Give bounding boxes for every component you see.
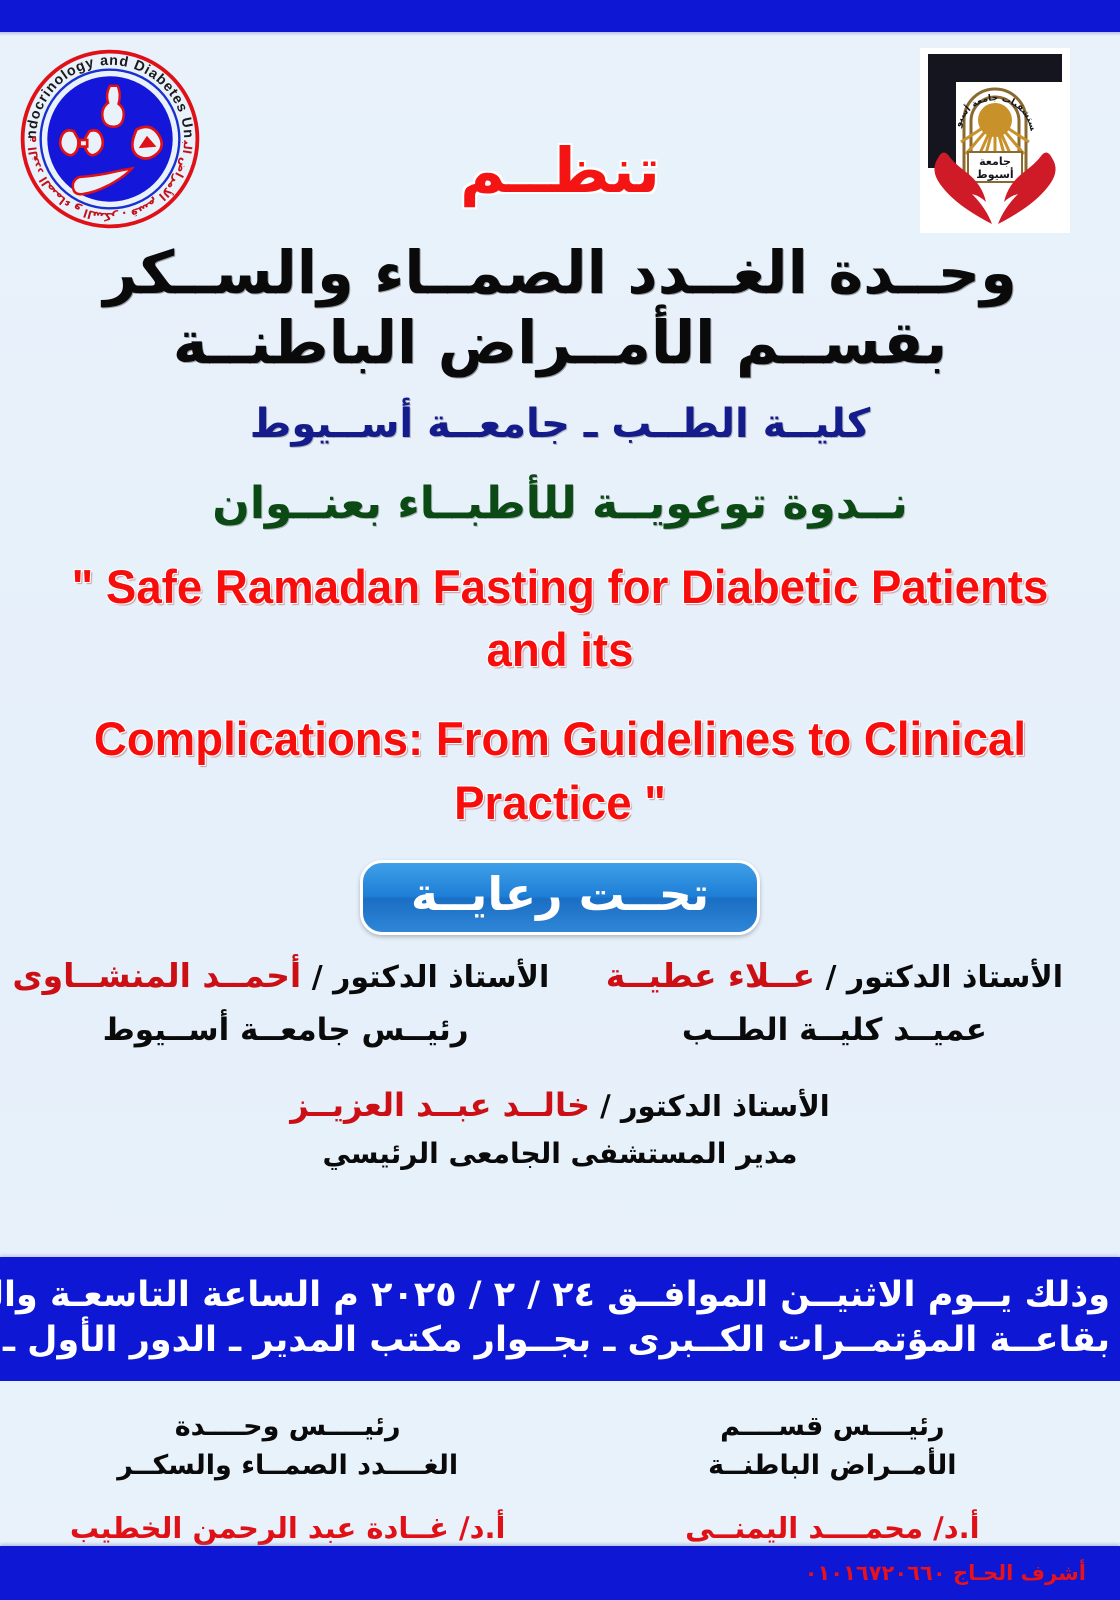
signature-title-line2-internal-medicine: الأمــراض الباطنــة <box>571 1446 1094 1485</box>
signature-row: رئيــــس قســــم الأمــراض الباطنــة أ.د… <box>26 1407 1094 1546</box>
top-blue-bar <box>0 0 1120 32</box>
faculty-line: كليــة الطــب ـ جامعــة أســيوط <box>0 402 1120 446</box>
svg-text:أسيوط: أسيوط <box>976 167 1013 181</box>
event-details-bar: وذلك يــوم الاثنيــن الموافــق ٢٤ / ٢ / … <box>0 1257 1120 1381</box>
signature-title-line1-internal-medicine: رئيــــس قســــم <box>571 1407 1094 1446</box>
unit-title-line2: بقســم الأمــراض الباطنــة <box>0 310 1120 376</box>
unit-title-line1: وحــدة الغــدد الصمــاء والســكر <box>0 240 1120 306</box>
signatures-section: رئيــــس قســــم الأمــراض الباطنــة أ.د… <box>0 1381 1120 1546</box>
patron-fullname-hospital-director: خالــد عبــد العزيــز <box>290 1086 590 1124</box>
signature-title-line1-endocrinology-unit: رئيــــس وحــــدة <box>26 1407 549 1446</box>
patron-fullname-president: أحمــد المنشــاوى <box>12 956 301 995</box>
patron-role-hospital-director: مدير المستشفى الجامعى الرئيسي <box>22 1138 1098 1170</box>
signature-col-endocrinology-unit: رئيــــس وحــــدة الغــــدد الصمــاء وال… <box>26 1407 549 1546</box>
signature-title-line2-endocrinology-unit: الغــــدد الصمــاء والسكــر <box>26 1446 549 1485</box>
patron-name-president: الأستاذ الدكتور / أحمــد المنشــاوى <box>22 957 549 996</box>
signature-col-internal-medicine: رئيــــس قســــم الأمــراض الباطنــة أ.د… <box>571 1407 1094 1546</box>
patron-fullname-dean: عــلاء عطيــة <box>606 956 815 995</box>
patron-row: الأستاذ الدكتور / عــلاء عطيــة عميــد ك… <box>22 957 1098 1049</box>
signature-name-internal-medicine: أ.د/ محمــــد اليمنــى <box>571 1511 1094 1546</box>
event-venue-line: بقاعــة المؤتمــرات الكــبرى ـ بجــوار م… <box>10 1318 1110 1363</box>
patron-name-hospital-director: الأستاذ الدكتور / خالــد عبــد العزيــز <box>22 1087 1098 1124</box>
footer-bar: أشرف الحـاج ٠١٠١٦٧٢٠٦٦٠ <box>0 1546 1120 1600</box>
english-title-line1: " Safe Ramadan Fasting for Diabetic Pati… <box>17 555 1103 682</box>
seminar-poster: Endocrinology and Diabetes Unit وحدة الغ… <box>0 0 1120 1600</box>
patron-prefix-dean: الأستاذ الدكتور / <box>825 960 1063 995</box>
patron-col-dean: الأستاذ الدكتور / عــلاء عطيــة عميــد ك… <box>571 957 1098 1049</box>
event-date-line: وذلك يــوم الاثنيــن الموافــق ٢٤ / ٢ / … <box>10 1273 1110 1318</box>
layout-spacer <box>0 1170 1120 1257</box>
seminar-subtitle: نــدوة توعويــة للأطبــاء بعنــوان <box>0 480 1120 528</box>
patron-hospital-director: الأستاذ الدكتور / خالــد عبــد العزيــز … <box>22 1087 1098 1170</box>
patron-prefix-hospital-director: الأستاذ الدكتور / <box>600 1089 830 1123</box>
patrons-section: الأستاذ الدكتور / عــلاء عطيــة عميــد ك… <box>0 957 1120 1170</box>
footer-credit: أشرف الحـاج ٠١٠١٦٧٢٠٦٦٠ <box>805 1561 1086 1585</box>
patronage-badge-container: تحــت رعايــة <box>0 860 1120 935</box>
signature-name-endocrinology-unit: أ.د/ غــادة عبد الرحمن الخطيب <box>26 1511 549 1546</box>
patron-role-president: رئيــس جامعــة أســيوط <box>22 1013 549 1049</box>
english-title-line2: Complications: From Guidelines to Clinic… <box>17 707 1103 834</box>
assiut-university-logo: جامعة أسيوط مستشفيات جامعة أسيوط <box>920 48 1070 233</box>
svg-text:جامعة: جامعة <box>979 155 1011 168</box>
patron-role-dean: عميــد كليــة الطــب <box>571 1013 1098 1049</box>
endocrinology-diabetes-unit-logo: Endocrinology and Diabetes Unit وحدة الغ… <box>15 44 205 234</box>
patron-col-president: الأستاذ الدكتور / أحمــد المنشــاوى رئيـ… <box>22 957 549 1049</box>
patron-prefix-president: الأستاذ الدكتور / <box>312 960 550 995</box>
poster-header: Endocrinology and Diabetes Unit وحدة الغ… <box>0 36 1120 236</box>
patronage-badge: تحــت رعايــة <box>360 860 760 935</box>
patron-name-dean: الأستاذ الدكتور / عــلاء عطيــة <box>571 957 1098 996</box>
